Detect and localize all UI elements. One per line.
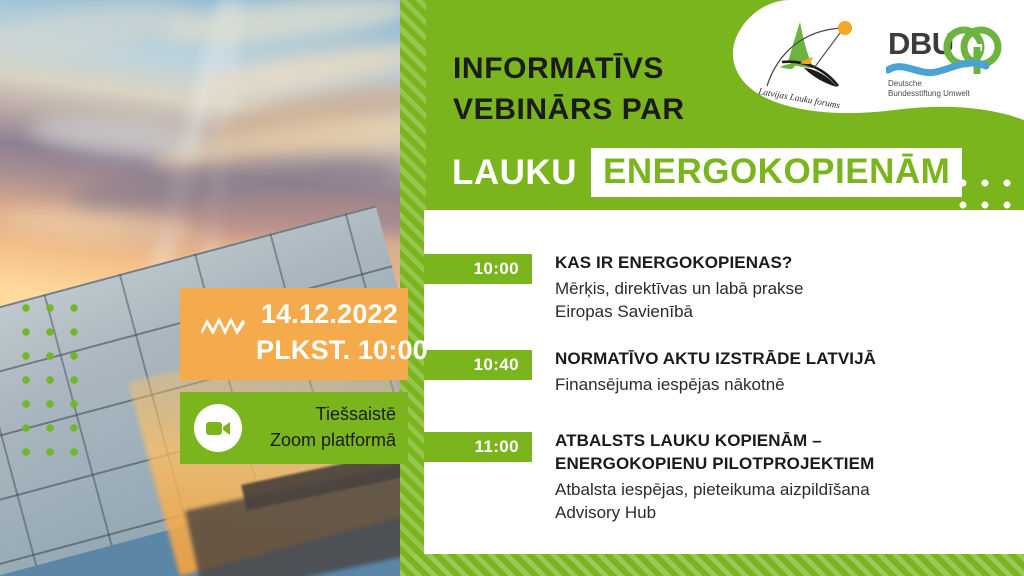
agenda-body: KAS IR ENERGOKOPIENAS?Mērķis, direktīvas… — [555, 252, 1015, 324]
headline: INFORMATĪVS VEBINĀRS PAR — [453, 48, 685, 130]
webinar-poster: Latvijas Lauku forums DBU Deutsche Bunde… — [0, 0, 1024, 576]
agenda-title-line: ENERGOKOPIENU PILOTPROJEKTIEM — [555, 453, 1015, 476]
agenda-body: NORMATĪVO AKTU IZSTRĀDE LATVIJĀFinansēju… — [555, 348, 1015, 396]
platform-line-1: Tiešsaistē — [250, 402, 396, 428]
agenda-subtitle-line: Mērķis, direktīvas un labā prakse — [555, 277, 1015, 300]
headline-line-1: INFORMATĪVS — [453, 48, 685, 89]
agenda-title: KAS IR ENERGOKOPIENAS? — [555, 252, 1015, 275]
agenda-time-badge: 10:00 — [424, 254, 532, 284]
agenda-subtitle-line: Eiropas Savienībā — [555, 300, 1015, 323]
date-line: 14.12.2022 — [256, 296, 398, 332]
agenda-subtitle: Atbalsta iespējas, pieteikuma aizpildīša… — [555, 478, 1015, 525]
agenda-card: 10:00KAS IR ENERGOKOPIENAS?Mērķis, direk… — [424, 210, 1024, 554]
dbu-subtitle-line1: Deutsche — [888, 79, 922, 88]
agenda-subtitle: Finansējuma iespējas nākotnē — [555, 373, 1015, 396]
agenda-title: NORMATĪVO AKTU IZSTRĀDE LATVIJĀ — [555, 348, 1015, 371]
agenda-title-line: KAS IR ENERGOKOPIENAS? — [555, 252, 1015, 275]
date-time-text: 14.12.2022 PLKST. 10:00 — [256, 296, 398, 369]
time-line: PLKST. 10:00 — [256, 332, 398, 368]
agenda-time-badge: 11:00 — [424, 432, 532, 462]
agenda-subtitle-line: Finansējuma iespējas nākotnē — [555, 373, 1015, 396]
dbu-logo: DBU Deutsche Bundesstiftung Umwelt — [886, 22, 1004, 98]
agenda-body: ATBALSTS LAUKU KOPIENĀM –ENERGOKOPIENU P… — [555, 430, 1015, 524]
agenda-title-line: NORMATĪVO AKTU IZSTRĀDE LATVIJĀ — [555, 348, 1015, 371]
agenda-subtitle-line: Atbalsta iespējas, pieteikuma aizpildīša… — [555, 478, 1015, 501]
agenda-title: ATBALSTS LAUKU KOPIENĀM –ENERGOKOPIENU P… — [555, 430, 1015, 476]
title-word-highlight: ENERGOKOPIENĀM — [591, 148, 962, 197]
agenda-title-line: ATBALSTS LAUKU KOPIENĀM – — [555, 430, 1015, 453]
platform-line-2: Zoom platformā — [250, 428, 396, 454]
mountain-zigzag-icon — [200, 314, 246, 336]
title-word-plain: LAUKU — [452, 153, 591, 193]
latvijas-lauku-forums-logo: Latvijas Lauku forums — [742, 16, 870, 108]
platform-block: Tiešsaistē Zoom platformā — [180, 392, 408, 464]
llf-wordmark: Latvijas Lauku forums — [757, 86, 842, 108]
page-title: LAUKU ENERGOKOPIENĀM — [452, 148, 962, 197]
headline-line-2: VEBINĀRS PAR — [453, 89, 685, 130]
agenda-subtitle: Mērķis, direktīvas un labā prakseEiropas… — [555, 277, 1015, 324]
dot-grid-left-decoration — [14, 296, 88, 468]
video-camera-icon — [194, 404, 242, 452]
date-time-block: 14.12.2022 PLKST. 10:00 — [180, 288, 408, 380]
agenda-subtitle-line: Advisory Hub — [555, 501, 1015, 524]
agenda-time-badge: 10:40 — [424, 350, 532, 380]
platform-text: Tiešsaistē Zoom platformā — [250, 402, 396, 453]
dbu-subtitle-line2: Bundesstiftung Umwelt — [888, 89, 971, 98]
bottom-stripe-band — [400, 554, 1024, 576]
video-camera-icon-circle — [194, 404, 242, 452]
